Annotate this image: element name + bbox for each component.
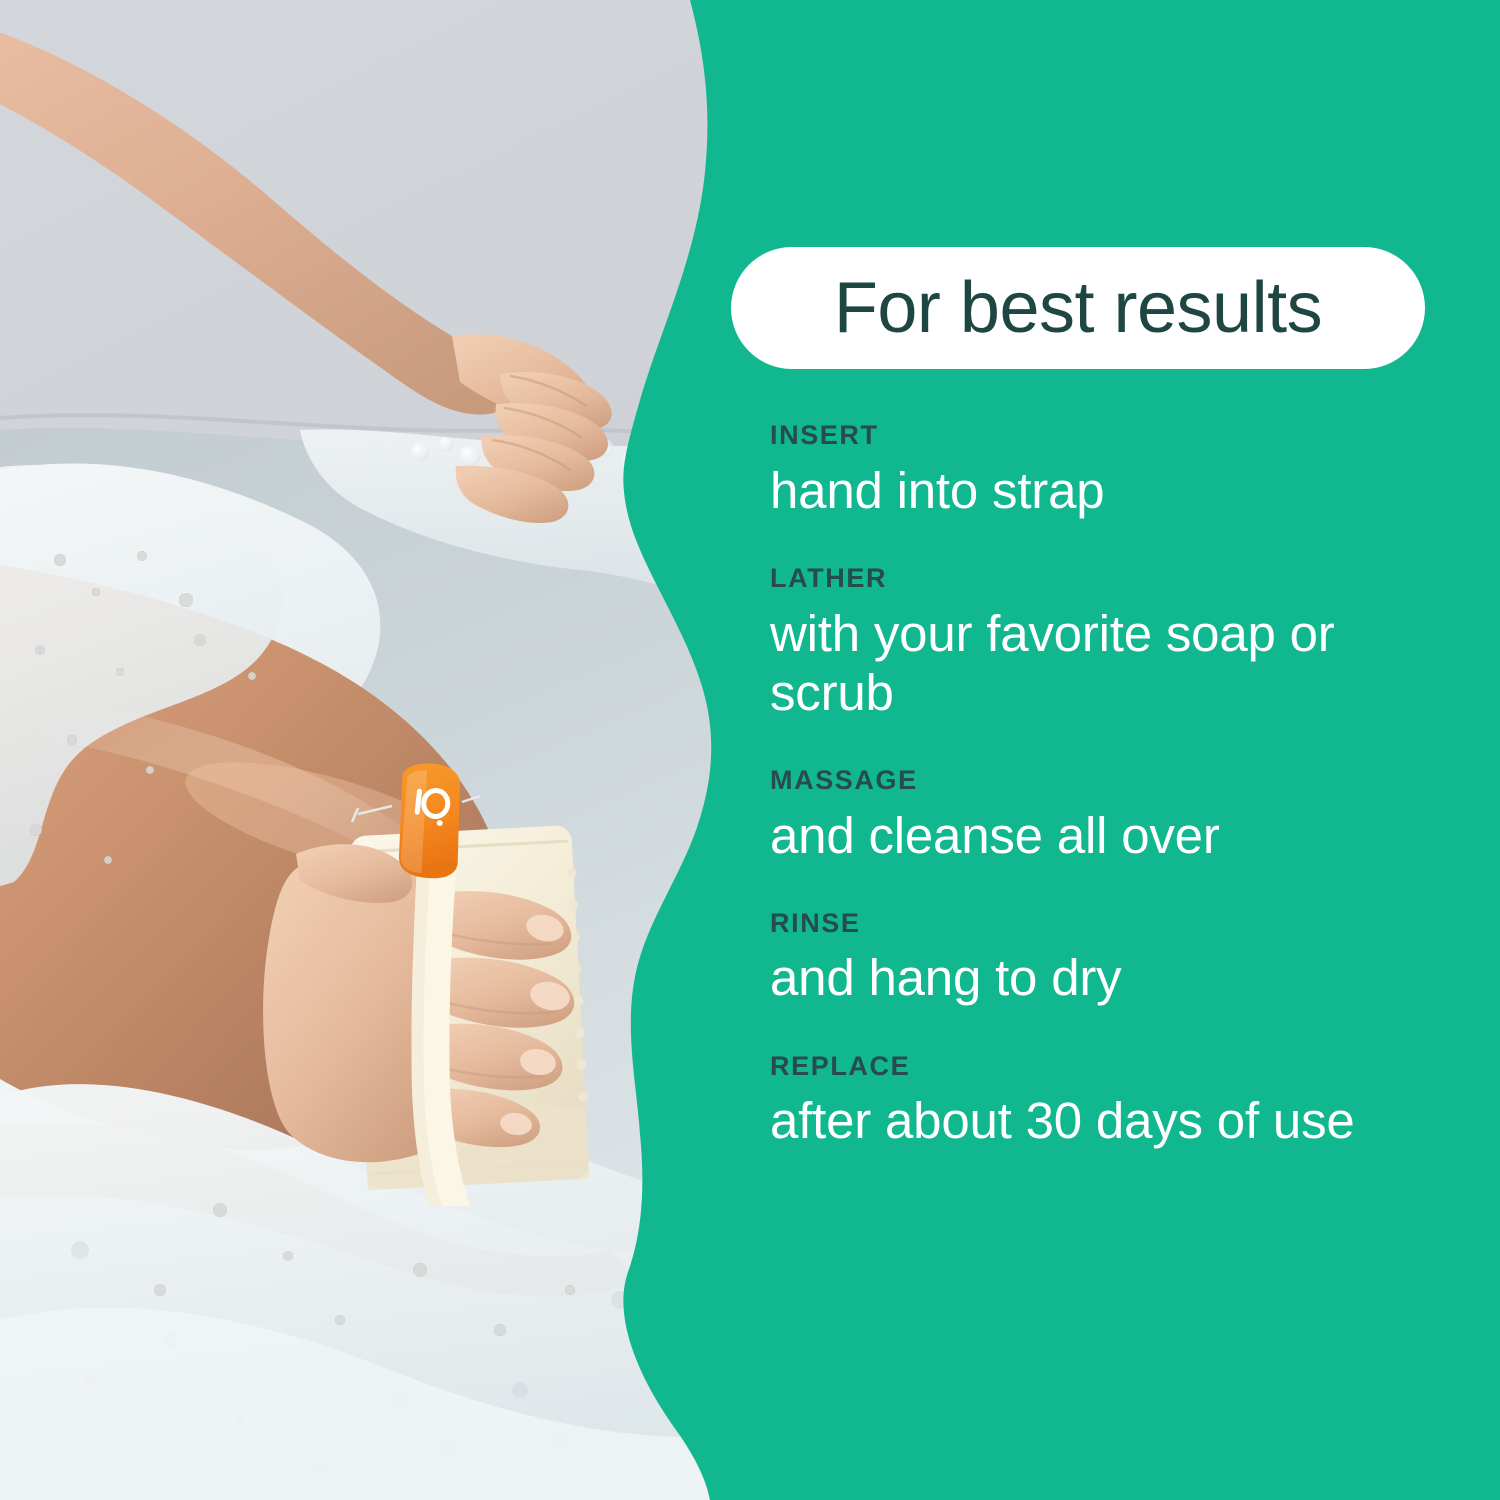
title-pill: For best results (731, 247, 1425, 369)
step-label-insert: INSERT (770, 421, 1470, 451)
step-label-lather: LATHER (770, 564, 1470, 594)
page-title: For best results (834, 272, 1322, 344)
steps-list: INSERT hand into strap LATHER with your … (770, 421, 1470, 1150)
step-label-replace: REPLACE (770, 1052, 1470, 1082)
step-label-massage: MASSAGE (770, 766, 1470, 796)
step-rinse: RINSE and hang to dry (770, 909, 1470, 1008)
step-massage: MASSAGE and cleanse all over (770, 766, 1470, 865)
step-insert: INSERT hand into strap (770, 421, 1470, 520)
step-replace: REPLACE after about 30 days of use (770, 1052, 1470, 1151)
instructions-content: For best results INSERT hand into strap … (0, 0, 1500, 1500)
step-body-replace: after about 30 days of use (770, 1091, 1470, 1150)
step-lather: LATHER with your favorite soap or scrub (770, 564, 1470, 722)
step-body-rinse: and hang to dry (770, 948, 1470, 1007)
step-body-insert: hand into strap (770, 461, 1470, 520)
step-body-massage: and cleanse all over (770, 806, 1470, 865)
product-instructions-infographic: For best results INSERT hand into strap … (0, 0, 1500, 1500)
step-body-lather: with your favorite soap or scrub (770, 604, 1440, 722)
step-label-rinse: RINSE (770, 909, 1470, 939)
